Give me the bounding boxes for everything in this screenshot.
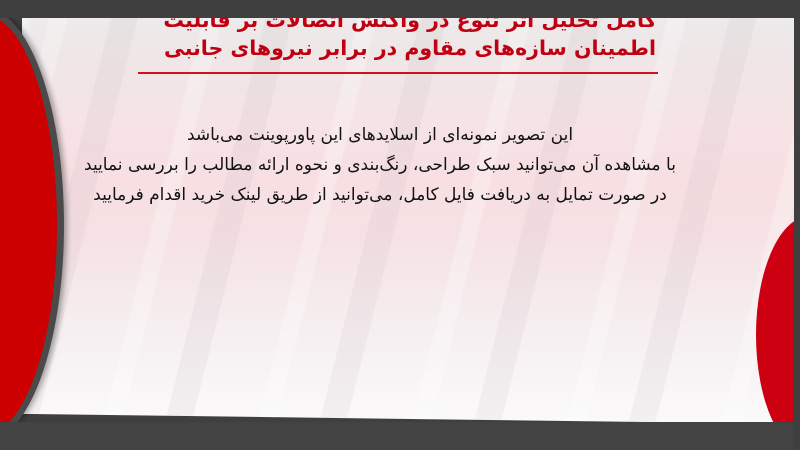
content-panel	[22, 18, 794, 424]
slide-frame-top	[0, 0, 800, 18]
title-underline-rule	[138, 72, 658, 74]
slide-body-line-3: در صورت تمایل به دریافت فایل کامل، می‌تو…	[60, 180, 700, 210]
slide-body-line-2: با مشاهده آن می‌توانید سبک طراحی، رنگ‌بن…	[60, 150, 700, 180]
slide-canvas: کامل تحلیل اثر تنوع در واکنش اتصالات بر …	[0, 0, 800, 450]
slide-body-line-1: این تصویر نمونه‌ای از اسلایدهای این پاور…	[60, 120, 700, 150]
slide-frame-bottom	[0, 422, 800, 450]
slide-title-line-2: اطمینان سازه‌های مقاوم در برابر نیروهای …	[90, 34, 730, 62]
slide-body: این تصویر نمونه‌ای از اسلایدهای این پاور…	[60, 120, 700, 210]
slide-frame-right	[794, 0, 800, 450]
